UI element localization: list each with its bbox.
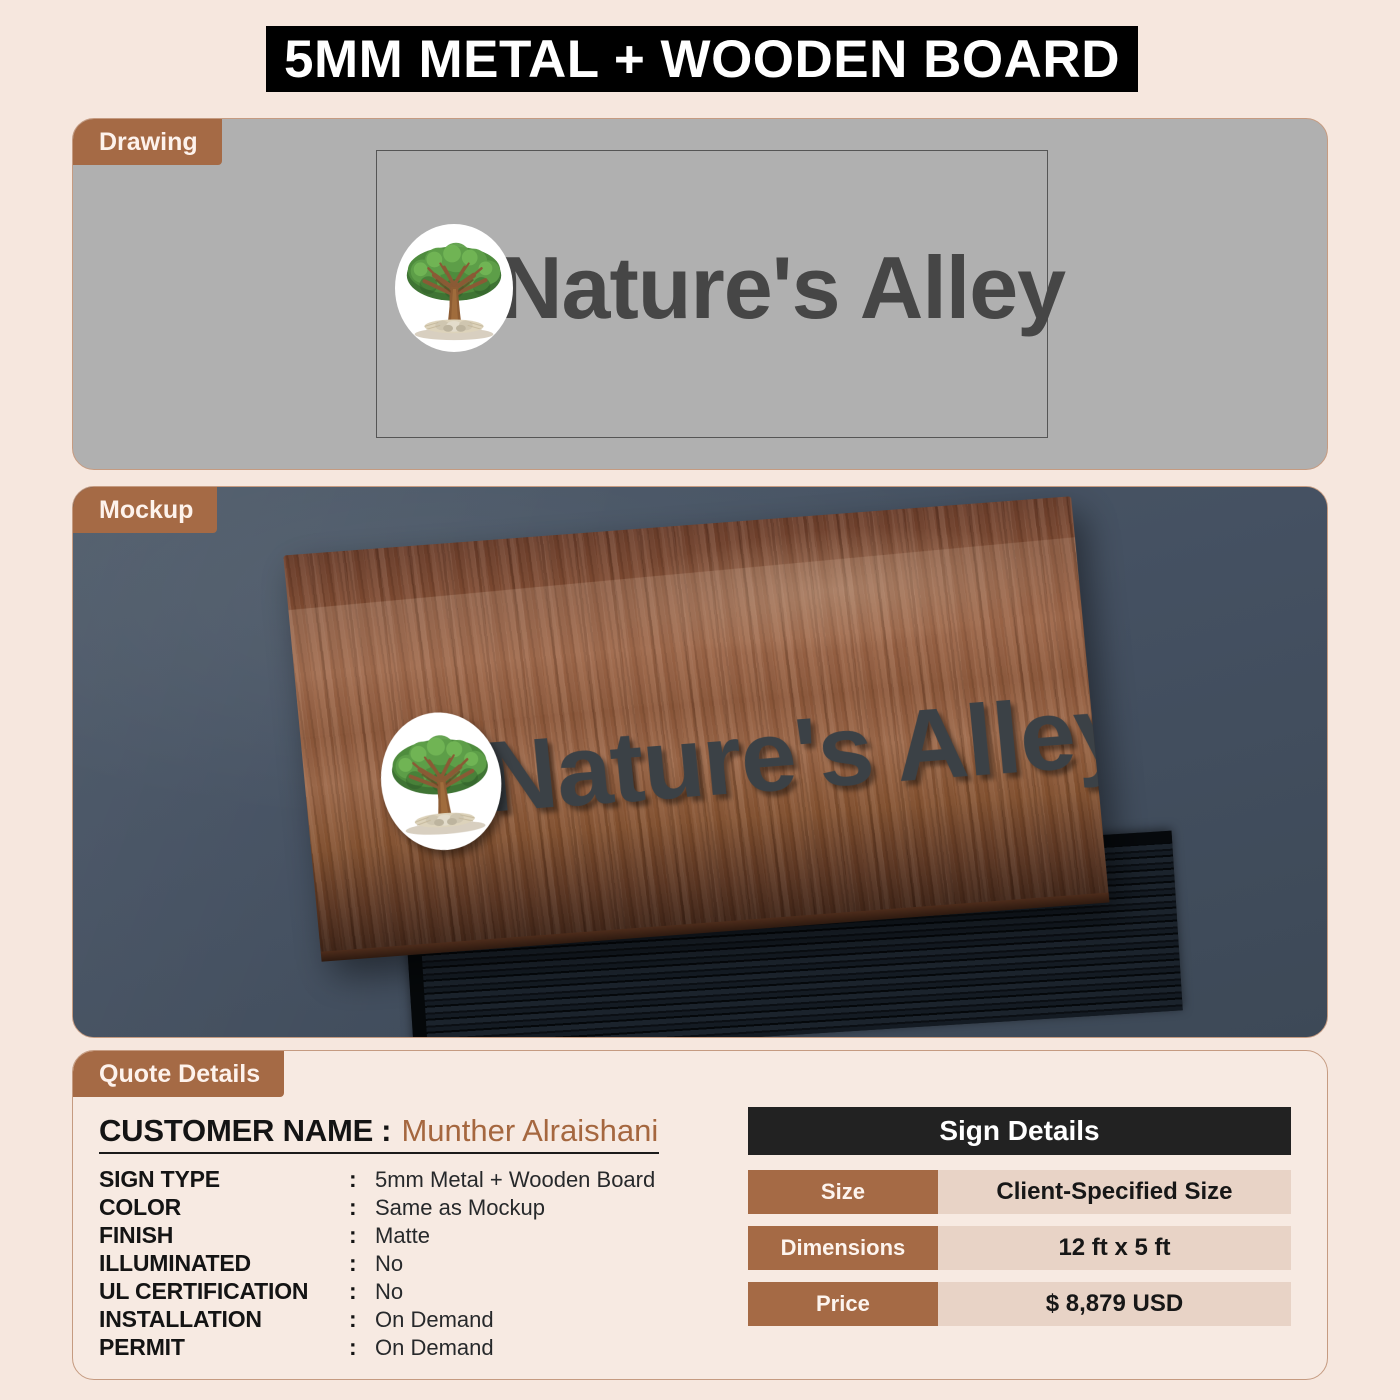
sign-details-table: Sign Details Size Client-Specified Size … — [732, 1097, 1327, 1380]
spec-value: Same as Mockup — [375, 1195, 545, 1221]
sign-details-value-cell: Client-Specified Size — [938, 1170, 1291, 1214]
spec-colon: : — [349, 1250, 375, 1277]
quote-details-panel: Quote Details CUSTOMER NAME : Munther Al… — [72, 1050, 1328, 1380]
mockup-panel: Nature's Alley Mockup — [72, 486, 1328, 1038]
spec-row: COLOR : Same as Mockup — [99, 1194, 732, 1222]
sign-details-value: $ 8,879 USD — [1046, 1290, 1183, 1318]
spec-row: INSTALLATION : On Demand — [99, 1306, 732, 1334]
sign-details-key: Price — [816, 1291, 870, 1317]
page-title-bar: 5MM METAL + WOODEN BOARD — [266, 26, 1138, 92]
sign-details-row: Price $ 8,879 USD — [748, 1282, 1291, 1326]
spec-label: INSTALLATION — [99, 1306, 349, 1333]
sign-details-header: Sign Details — [748, 1107, 1291, 1155]
spec-value: 5mm Metal + Wooden Board — [375, 1167, 655, 1193]
spec-row: UL CERTIFICATION : No — [99, 1278, 732, 1306]
mockup-tab-label: Mockup — [99, 496, 193, 525]
customer-name-colon: : — [381, 1113, 391, 1149]
sign-details-value: 12 ft x 5 ft — [1058, 1234, 1170, 1262]
wooden-sign-board: Nature's Alley — [283, 496, 1109, 953]
quote-details-tab-label: Quote Details — [99, 1060, 260, 1089]
quote-left-column: CUSTOMER NAME : Munther Alraishani SIGN … — [73, 1097, 732, 1380]
spec-label: SIGN TYPE — [99, 1166, 349, 1193]
page-title: 5MM METAL + WOODEN BOARD — [284, 29, 1120, 90]
customer-name-label: CUSTOMER NAME — [99, 1113, 373, 1149]
sign-details-key-cell: Price — [748, 1282, 938, 1326]
spec-colon: : — [349, 1306, 375, 1333]
drawing-logo-wordmark: Nature's Alley — [499, 244, 1065, 332]
spec-value: On Demand — [375, 1335, 494, 1361]
spec-row: SIGN TYPE : 5mm Metal + Wooden Board — [99, 1166, 732, 1194]
sign-details-row: Dimensions 12 ft x 5 ft — [748, 1226, 1291, 1270]
sign-details-key-cell: Size — [748, 1170, 938, 1214]
mockup-tab: Mockup — [73, 487, 217, 533]
spec-value: On Demand — [375, 1307, 494, 1333]
tree-logo-icon — [375, 708, 508, 854]
spec-colon: : — [349, 1334, 375, 1361]
drawing-tab: Drawing — [73, 119, 222, 165]
drawing-panel: Drawing — [72, 118, 1328, 470]
sign-details-header-label: Sign Details — [939, 1115, 1099, 1147]
spec-list: SIGN TYPE : 5mm Metal + Wooden Board COL… — [99, 1166, 732, 1362]
tree-logo-icon — [395, 224, 513, 352]
spec-label: COLOR — [99, 1194, 349, 1221]
spec-value: Matte — [375, 1223, 430, 1249]
spec-colon: : — [349, 1222, 375, 1249]
spec-value: No — [375, 1251, 403, 1277]
spec-row: ILLUMINATED : No — [99, 1250, 732, 1278]
spec-colon: : — [349, 1166, 375, 1193]
sign-details-value: Client-Specified Size — [996, 1178, 1232, 1206]
spec-value: No — [375, 1279, 403, 1305]
customer-name-value: Munther Alraishani — [401, 1113, 658, 1149]
spec-colon: : — [349, 1194, 375, 1221]
sign-details-key: Dimensions — [781, 1235, 906, 1261]
spec-row: PERMIT : On Demand — [99, 1334, 732, 1362]
drawing-tab-label: Drawing — [99, 128, 198, 157]
sign-details-value-cell: $ 8,879 USD — [938, 1282, 1291, 1326]
customer-name-row: CUSTOMER NAME : Munther Alraishani — [99, 1113, 659, 1154]
mockup-logo-wordmark: Nature's Alley — [480, 680, 1108, 828]
drawing-logo-group: Nature's Alley — [395, 224, 1065, 352]
spec-colon: : — [349, 1278, 375, 1305]
sign-details-value-cell: 12 ft x 5 ft — [938, 1226, 1291, 1270]
sign-details-key: Size — [821, 1179, 865, 1205]
sign-details-row: Size Client-Specified Size — [748, 1170, 1291, 1214]
spec-row: FINISH : Matte — [99, 1222, 732, 1250]
spec-label: ILLUMINATED — [99, 1250, 349, 1277]
quote-details-tab: Quote Details — [73, 1051, 284, 1097]
spec-label: PERMIT — [99, 1334, 349, 1361]
spec-label: FINISH — [99, 1222, 349, 1249]
spec-label: UL CERTIFICATION — [99, 1278, 349, 1305]
board-surface: Nature's Alley — [283, 496, 1109, 953]
sign-details-key-cell: Dimensions — [748, 1226, 938, 1270]
